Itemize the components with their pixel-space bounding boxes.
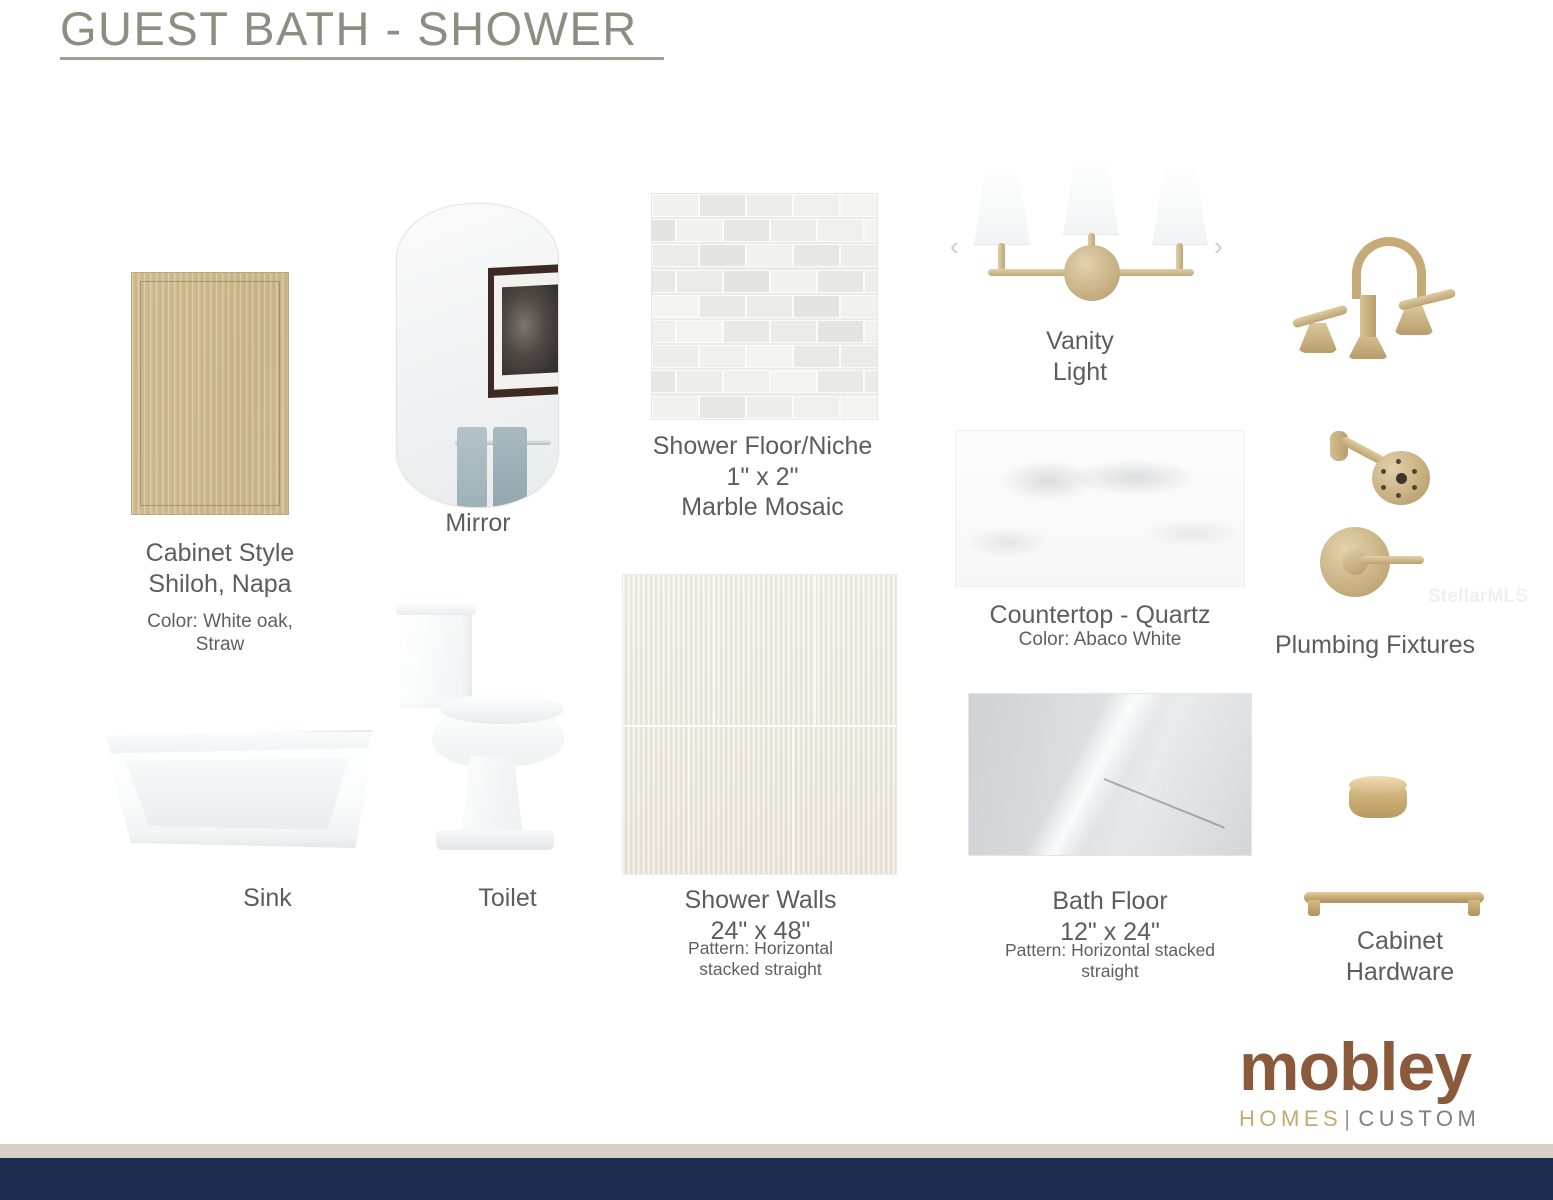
- mosaic-tile: [770, 370, 817, 393]
- mosaic-row: [651, 219, 878, 244]
- logo-separator: |: [1344, 1106, 1354, 1132]
- countertop-quartz-swatch: [955, 430, 1245, 587]
- toilet-tank: [400, 608, 472, 708]
- mosaic-tile: [793, 194, 840, 217]
- mosaic-tile: [840, 345, 878, 368]
- mosaic-tile: [793, 295, 840, 318]
- mosaic-tile: [746, 244, 793, 267]
- logo-custom: CUSTOM: [1358, 1106, 1480, 1132]
- spray-nozzle: [1381, 485, 1386, 490]
- marble-mosaic-swatch: [651, 193, 878, 420]
- mosaic-tile: [864, 219, 878, 242]
- mosaic-tile: [793, 244, 840, 267]
- mosaic-tile: [840, 295, 878, 318]
- faucet-handle-base-left: [1298, 323, 1338, 353]
- lamp-backplate: [1064, 245, 1120, 301]
- mosaic-tile: [840, 396, 878, 419]
- mosaic-tile: [676, 219, 723, 242]
- toilet-seat: [440, 694, 564, 724]
- mosaic-tile: [699, 345, 746, 368]
- lamp-shade-right: [1152, 163, 1208, 245]
- knob-top: [1349, 776, 1407, 794]
- mosaic-tile: [746, 396, 793, 419]
- design-board: GUEST BATH - SHOWER Cabinet Style Shiloh…: [0, 0, 1553, 1200]
- plumbing-fixtures-caption: Plumbing Fixtures: [1255, 630, 1495, 661]
- footer-band-navy: [0, 1158, 1553, 1200]
- lamp-shade-center: [1063, 153, 1119, 235]
- grout-line-vertical: [814, 575, 816, 725]
- toilet-base: [436, 830, 554, 850]
- cabinet-style-subcaption: Color: White oak, Straw: [110, 610, 330, 656]
- spray-nozzle: [1412, 469, 1417, 474]
- bath-floor-caption: Bath Floor 12" x 24": [965, 886, 1255, 947]
- reflected-towel-left: [457, 427, 487, 507]
- sink-image: [96, 722, 384, 857]
- pull-bar: [1304, 892, 1484, 903]
- mosaic-tile: [770, 270, 817, 293]
- mosaic-tile: [676, 370, 723, 393]
- faucet-image: [1286, 237, 1476, 382]
- mosaic-tile: [652, 396, 699, 419]
- mosaic-tile: [723, 219, 770, 242]
- logo-wordmark: mobley: [1239, 1035, 1535, 1100]
- lamp-riser-left: [998, 243, 1005, 271]
- mosaic-row: [652, 295, 878, 320]
- mosaic-row: [651, 370, 878, 395]
- mosaic-tile: [723, 270, 770, 293]
- mosaic-row: [651, 320, 878, 345]
- carousel-next-icon[interactable]: ›: [1214, 231, 1223, 262]
- grout-line-vertical: [689, 725, 691, 875]
- mosaic-tile: [651, 219, 676, 242]
- mosaic-tile: [651, 320, 676, 343]
- showerhead-center-hub: [1396, 473, 1407, 484]
- countertop-subcaption: Color: Abaco White: [955, 628, 1245, 651]
- spray-nozzle: [1396, 493, 1401, 498]
- mosaic-tile: [699, 295, 746, 318]
- artwork-photo: [502, 284, 558, 375]
- mirror-reflected-artwork: [488, 264, 559, 398]
- mosaic-tile: [699, 244, 746, 267]
- logo-tagline: HOMES | CUSTOM: [1239, 1106, 1535, 1132]
- mosaic-tile: [699, 396, 746, 419]
- mosaic-tile: [746, 345, 793, 368]
- mosaic-tile: [864, 370, 878, 393]
- mirror-image: [396, 203, 559, 508]
- toilet-tank-lid: [396, 602, 476, 615]
- countertop-caption: Countertop - Quartz: [955, 600, 1245, 631]
- mosaic-tile: [652, 244, 699, 267]
- mosaic-tile: [723, 320, 770, 343]
- vanity-light-image: ‹ ›: [952, 145, 1230, 320]
- faucet-base: [1348, 337, 1388, 359]
- page-title-block: GUEST BATH - SHOWER: [60, 4, 664, 60]
- spray-nozzle: [1412, 485, 1417, 490]
- bath-floor-subcaption: Pattern: Horizontal stacked straight: [955, 940, 1265, 983]
- mosaic-tile: [817, 370, 864, 393]
- cabinet-style-caption: Cabinet Style Shiloh, Napa: [110, 538, 330, 599]
- lamp-shade-left: [974, 163, 1030, 245]
- stellarmls-watermark: StellarMLS: [1428, 586, 1528, 608]
- shower-wall-tile-swatch: [622, 574, 897, 875]
- footer-band-tan: [0, 1144, 1553, 1158]
- mosaic-row: [652, 244, 878, 269]
- mosaic-tile: [864, 270, 878, 293]
- cabinet-knob-image: [1335, 760, 1423, 846]
- mirror-caption: Mirror: [378, 508, 578, 539]
- brand-logo: mobley HOMES | CUSTOM: [1239, 1035, 1535, 1132]
- mosaic-row: [652, 396, 878, 420]
- cabinet-pull-image: [1292, 872, 1498, 924]
- toilet-image: [396, 608, 576, 856]
- valve-handle: [1360, 556, 1424, 564]
- mosaic-tile: [746, 194, 793, 217]
- shower-valve-trim-image: [1320, 525, 1440, 601]
- page-title: GUEST BATH - SHOWER: [60, 4, 664, 53]
- sink-caption: Sink: [160, 883, 375, 914]
- mosaic-tile: [676, 270, 723, 293]
- reflected-towel-right: [493, 427, 527, 507]
- shower-walls-caption: Shower Walls 24" x 48": [618, 885, 903, 946]
- bath-floor-tile-swatch: [968, 693, 1252, 856]
- mosaic-tile: [793, 396, 840, 419]
- mosaic-tile: [817, 219, 864, 242]
- mosaic-tile: [699, 194, 746, 217]
- mosaic-tile: [651, 370, 676, 393]
- grout-line-horizontal: [623, 725, 896, 727]
- marble-vein: [1104, 778, 1225, 828]
- toilet-pedestal: [458, 756, 526, 838]
- mosaic-row: [652, 194, 878, 219]
- mosaic-tile: [770, 320, 817, 343]
- pull-leg-right: [1468, 900, 1480, 916]
- logo-homes: HOMES: [1239, 1106, 1342, 1132]
- mosaic-tile: [652, 295, 699, 318]
- carousel-prev-icon[interactable]: ‹: [950, 231, 959, 262]
- vanity-light-caption: Vanity Light: [985, 326, 1175, 387]
- cabinet-hardware-caption: Cabinet Hardware: [1300, 926, 1500, 987]
- spray-nozzle: [1396, 459, 1401, 464]
- shower-walls-subcaption: Pattern: Horizontal stacked straight: [618, 938, 903, 981]
- mosaic-tile: [676, 320, 723, 343]
- title-underline: [60, 57, 664, 60]
- faucet-spout: [1352, 237, 1426, 299]
- showerhead-image: [1330, 423, 1450, 511]
- mosaic-tile: [817, 320, 864, 343]
- mosaic-tile: [840, 244, 878, 267]
- toilet-caption: Toilet: [400, 883, 615, 914]
- mosaic-tile: [651, 270, 676, 293]
- mosaic-tile: [793, 345, 840, 368]
- grout-line-vertical: [713, 575, 715, 725]
- lamp-riser-right: [1176, 243, 1183, 271]
- mosaic-tile: [652, 345, 699, 368]
- spray-nozzle: [1381, 469, 1386, 474]
- grout-line-vertical: [792, 725, 794, 875]
- shower-floor-niche-caption: Shower Floor/Niche 1" x 2" Marble Mosaic: [620, 431, 905, 523]
- pull-leg-left: [1308, 900, 1320, 916]
- artwork-mat: [494, 272, 559, 390]
- mosaic-row: [651, 270, 878, 295]
- mosaic-tile: [652, 194, 699, 217]
- mosaic-tile: [723, 370, 770, 393]
- mosaic-tile: [770, 219, 817, 242]
- cabinet-door-swatch: [131, 272, 289, 515]
- mosaic-tile: [840, 194, 878, 217]
- mosaic-row: [652, 345, 878, 370]
- mosaic-tile: [864, 320, 878, 343]
- cabinet-inset-line: [140, 281, 280, 506]
- mosaic-tile: [746, 295, 793, 318]
- sink-well: [118, 758, 356, 830]
- mosaic-tile: [817, 270, 864, 293]
- faucet-column: [1360, 295, 1376, 343]
